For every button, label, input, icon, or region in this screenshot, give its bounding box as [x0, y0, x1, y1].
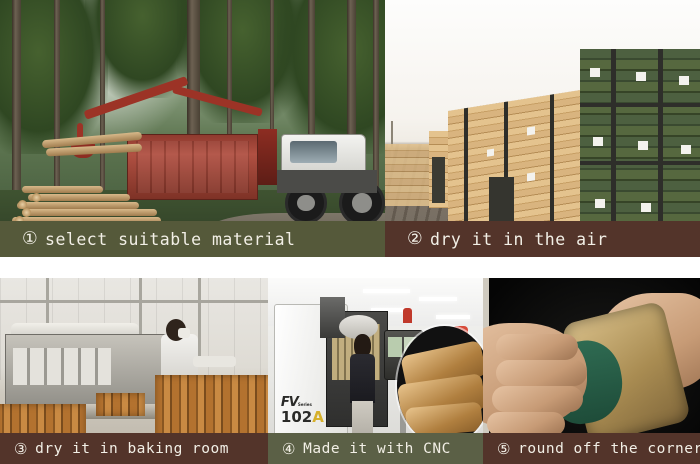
lumber-stack-distant [385, 144, 432, 206]
worker-face-mask [178, 328, 190, 337]
photo-stacked-lumber-yard [385, 0, 700, 257]
step-5-number: ⑤ [497, 440, 511, 458]
wood-on-conveyor [96, 393, 144, 415]
left-finger [496, 334, 578, 360]
cnc-model-suffix: A [312, 408, 324, 426]
process-step-3[interactable]: ③ dry it in baking room [0, 278, 268, 464]
warning-beacon [403, 308, 412, 323]
step-4-label: Made it with CNC [303, 441, 451, 457]
process-step-1[interactable]: ① select suitable material [0, 0, 385, 257]
cnc-model-label: FVSeries 102A [281, 393, 324, 425]
step-1-label: select suitable material [45, 230, 295, 249]
step-2-caption: ② dry it in the air [385, 221, 700, 257]
process-step-5[interactable]: ⑤ round off the corners [483, 278, 700, 464]
wood-piece-closeup [397, 326, 483, 445]
ceiling-beam [0, 300, 268, 303]
kiln-machine [5, 334, 171, 412]
process-collage: ① select suitable material [0, 0, 700, 464]
step-1-caption: ① select suitable material [0, 221, 385, 257]
step-5-caption: ⑤ round off the corners [483, 433, 700, 464]
tree-trunk [100, 0, 105, 195]
cnc-model-number: 102 [281, 408, 312, 426]
step-3-number: ③ [14, 440, 28, 458]
operator-body [350, 354, 376, 402]
tree-canopy [277, 0, 385, 154]
left-finger [496, 360, 587, 386]
worker-arm [193, 356, 236, 367]
step-3-label: dry it in baking room [35, 441, 229, 457]
process-step-2[interactable]: ② dry it in the air [385, 0, 700, 257]
cnc-brand-sub: Series [298, 402, 312, 407]
photo-logging-truck-in-forest [0, 0, 385, 257]
step-2-label: dry it in the air [430, 230, 607, 249]
ceiling-light [436, 315, 470, 319]
left-finger [492, 386, 583, 412]
ceiling-light [419, 297, 458, 301]
lumber-stack-green-ends [580, 49, 700, 242]
step-2-number: ② [407, 229, 423, 249]
process-step-4[interactable]: FVSeries 102A [268, 278, 483, 464]
crane-mast [258, 129, 277, 186]
process-row-bottom: ③ dry it in baking room FVSeries 102A [0, 278, 700, 464]
ceiling-light [363, 289, 410, 293]
wall-column [198, 278, 201, 356]
step-3-caption: ③ dry it in baking room [0, 433, 268, 464]
control-screen-left [388, 337, 402, 357]
step-1-number: ① [22, 229, 38, 249]
cab-window [290, 141, 336, 163]
spacer-block [432, 157, 445, 203]
step-5-label: round off the corners [518, 441, 700, 457]
process-row-top: ① select suitable material [0, 0, 700, 257]
truck-chassis [277, 170, 377, 193]
step-4-caption: ④ Made it with CNC [268, 433, 483, 464]
step-4-number: ④ [282, 440, 296, 458]
